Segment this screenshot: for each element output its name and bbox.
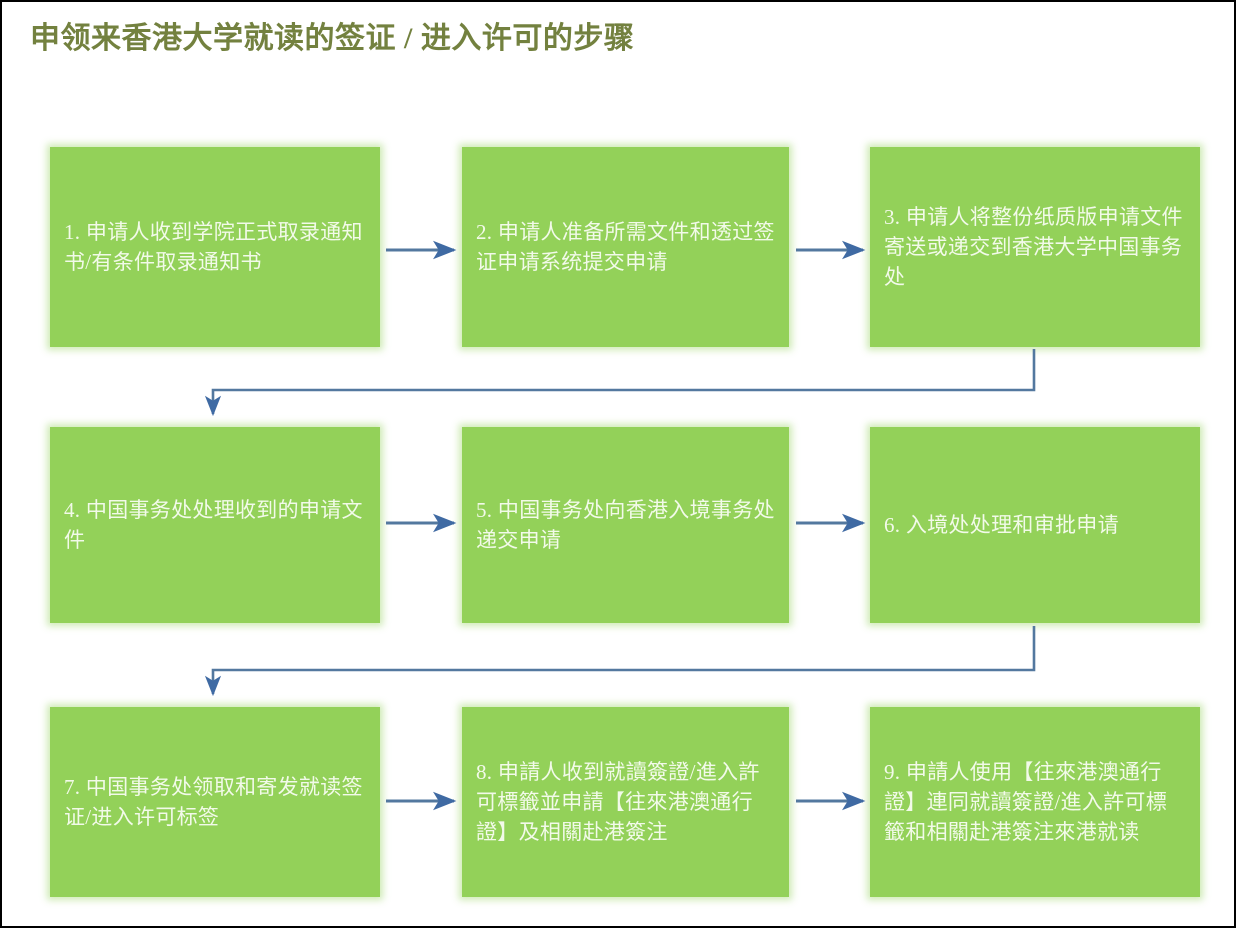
flow-node-1-label: 1. 申请人收到学院正式取录通知书/有条件取录通知书 [64, 217, 366, 277]
flow-node-5-label: 5. 中国事务处向香港入境事务处递交申请 [476, 495, 775, 555]
flow-node-2: 2. 申请人准备所需文件和透过签证申请系统提交申请 [462, 147, 789, 347]
flow-node-7-label: 7. 中国事务处领取和寄发就读签证/进入许可标签 [64, 772, 366, 832]
flow-node-4-label: 4. 中国事务处处理收到的申请文件 [64, 495, 366, 555]
flow-node-9-label: 9. 申請人使用【往來港澳通行證】連同就讀簽證/進入許可標籤和相關赴港簽注來港就… [884, 757, 1186, 847]
flow-node-8-label: 8. 申請人收到就讀簽證/進入許可標籤並申請【往來港澳通行證】及相關赴港簽注 [476, 757, 775, 847]
flow-node-6: 6. 入境处处理和审批申请 [870, 427, 1200, 623]
flow-node-2-label: 2. 申请人准备所需文件和透过签证申请系统提交申请 [476, 217, 775, 277]
diagram-page: 申领来香港大学就读的签证 / 进入许可的步骤 1. 申请人收到学院正式取录通知书… [0, 0, 1236, 928]
flow-node-3: 3. 申请人将整份纸质版申请文件寄送或递交到香港大学中国事务处 [870, 147, 1200, 347]
flow-node-8: 8. 申請人收到就讀簽證/進入許可標籤並申請【往來港澳通行證】及相關赴港簽注 [462, 707, 789, 897]
flow-node-6-label: 6. 入境处处理和审批申请 [884, 510, 1186, 540]
flowchart-canvas: 1. 申请人收到学院正式取录通知书/有条件取录通知书 2. 申请人准备所需文件和… [2, 2, 1234, 926]
flow-node-5: 5. 中国事务处向香港入境事务处递交申请 [462, 427, 789, 623]
flow-node-9: 9. 申請人使用【往來港澳通行證】連同就讀簽證/進入許可標籤和相關赴港簽注來港就… [870, 707, 1200, 897]
flow-node-7: 7. 中国事务处领取和寄发就读签证/进入许可标签 [50, 707, 380, 897]
flow-node-3-label: 3. 申请人将整份纸质版申请文件寄送或递交到香港大学中国事务处 [884, 202, 1186, 292]
flow-node-1: 1. 申请人收到学院正式取录通知书/有条件取录通知书 [50, 147, 380, 347]
flow-node-4: 4. 中国事务处处理收到的申请文件 [50, 427, 380, 623]
